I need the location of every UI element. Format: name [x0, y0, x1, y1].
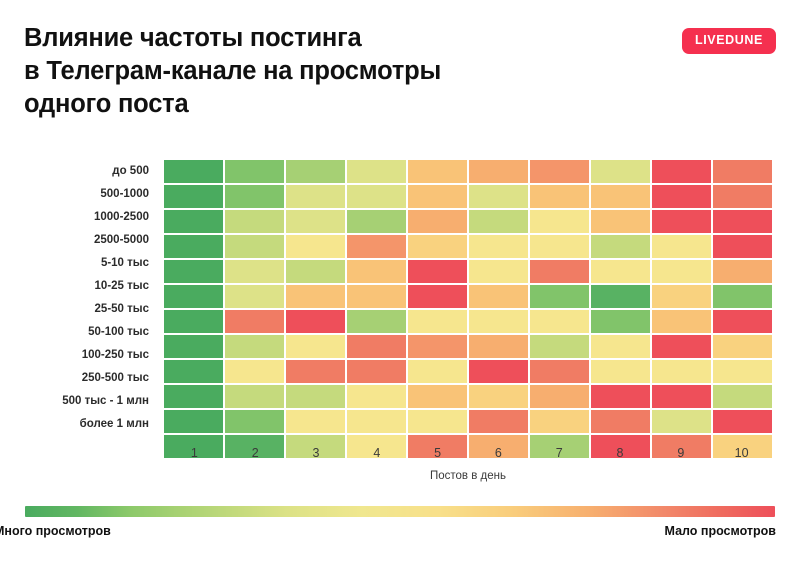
heatmap-cell	[408, 260, 467, 283]
heatmap-cell	[469, 310, 528, 333]
heatmap-cell	[591, 210, 650, 233]
heatmap-cell	[530, 360, 589, 383]
heatmap-cell	[530, 310, 589, 333]
heatmap-cell	[164, 335, 223, 358]
heatmap-cell	[225, 160, 284, 183]
heatmap-cell	[347, 335, 406, 358]
infographic-root: Влияние частоты постинга в Телеграм-кана…	[0, 0, 800, 561]
heatmap-chart: до 500500-10001000-25002500-50005-10 тыс…	[0, 150, 800, 470]
heatmap-cell	[530, 335, 589, 358]
y-axis-label: 25-50 тыс	[0, 298, 158, 321]
heatmap-cell	[286, 210, 345, 233]
heatmap-cell	[408, 385, 467, 408]
heatmap-cell	[347, 385, 406, 408]
heatmap-cell	[164, 360, 223, 383]
heatmap-cell	[408, 235, 467, 258]
livedune-logo-badge: LIVEDUNE	[682, 28, 776, 54]
heatmap-cell	[225, 210, 284, 233]
heatmap-cell	[591, 335, 650, 358]
y-axis-label: 2500-5000	[0, 229, 158, 252]
heatmap-cell	[469, 260, 528, 283]
heatmap-cell	[347, 285, 406, 308]
heatmap-cell	[469, 285, 528, 308]
heatmap-cell	[408, 335, 467, 358]
x-axis-label: 6	[468, 446, 529, 460]
heatmap-cell	[713, 360, 772, 383]
y-axis-label: 50-100 тыс	[0, 321, 158, 344]
heatmap-cell	[591, 260, 650, 283]
page-title: Влияние частоты постинга в Телеграм-кана…	[24, 22, 644, 121]
heatmap-cell	[591, 385, 650, 408]
heatmap-cell	[652, 410, 711, 433]
heatmap-cell	[469, 235, 528, 258]
heatmap-cell	[225, 360, 284, 383]
heatmap-cell	[286, 260, 345, 283]
y-axis-label: 500-1000	[0, 183, 158, 206]
heatmap-cell	[652, 260, 711, 283]
heatmap-cell	[469, 185, 528, 208]
y-axis-label: 1000-2500	[0, 206, 158, 229]
heatmap-cell	[591, 310, 650, 333]
x-axis-label: 2	[225, 446, 286, 460]
header: Влияние частоты постинга в Телеграм-кана…	[0, 0, 800, 150]
heatmap-cell	[652, 310, 711, 333]
heatmap-cell	[347, 235, 406, 258]
heatmap-cell	[652, 185, 711, 208]
heatmap-cell	[286, 160, 345, 183]
heatmap-cell	[347, 185, 406, 208]
heatmap-cell	[225, 185, 284, 208]
heatmap-cell	[713, 260, 772, 283]
x-axis-label: 8	[590, 446, 651, 460]
x-axis-label: 7	[529, 446, 590, 460]
heatmap-cell	[469, 385, 528, 408]
y-axis-labels: до 500500-10001000-25002500-50005-10 тыс…	[0, 160, 158, 436]
y-axis-label: 10-25 тыс	[0, 275, 158, 298]
heatmap-cell	[225, 260, 284, 283]
heatmap-cell	[530, 260, 589, 283]
heatmap-cell	[408, 160, 467, 183]
x-axis-label: 4	[346, 446, 407, 460]
heatmap-cell	[164, 310, 223, 333]
heatmap-cell	[347, 160, 406, 183]
heatmap-cell	[530, 185, 589, 208]
heatmap-cell	[713, 385, 772, 408]
heatmap-cell	[591, 185, 650, 208]
heatmap-cell	[347, 310, 406, 333]
y-axis-label: 250-500 тыс	[0, 367, 158, 390]
heatmap-cell	[652, 285, 711, 308]
x-axis-label: 1	[164, 446, 225, 460]
heatmap-cell	[469, 160, 528, 183]
x-axis-label: 10	[711, 446, 772, 460]
heatmap-cell	[164, 285, 223, 308]
heatmap-cell	[652, 210, 711, 233]
heatmap-cell	[408, 185, 467, 208]
heatmap-cell	[713, 160, 772, 183]
heatmap-cell	[530, 235, 589, 258]
heatmap-cell	[164, 235, 223, 258]
heatmap-cell	[347, 410, 406, 433]
heatmap-cell	[164, 160, 223, 183]
y-axis-label: 100-250 тыс	[0, 344, 158, 367]
heatmap-cell	[164, 410, 223, 433]
heatmap-cell	[713, 285, 772, 308]
heatmap-cell	[408, 410, 467, 433]
heatmap-cell	[408, 210, 467, 233]
heatmap-cell	[286, 410, 345, 433]
heatmap-cell	[225, 310, 284, 333]
x-axis-title: Постов в день	[164, 470, 772, 482]
heatmap-cell	[225, 410, 284, 433]
heatmap-cell	[286, 335, 345, 358]
heatmap-cell	[652, 160, 711, 183]
heatmap-cell	[347, 360, 406, 383]
x-axis-label: 5	[407, 446, 468, 460]
heatmap-cell	[713, 210, 772, 233]
legend-gradient-bar	[25, 506, 775, 517]
heatmap-cell	[652, 360, 711, 383]
y-axis-label: 500 тыс - 1 млн	[0, 390, 158, 413]
heatmap-cell	[225, 235, 284, 258]
heatmap-cell	[713, 185, 772, 208]
heatmap-cell	[286, 310, 345, 333]
heatmap-cell	[225, 385, 284, 408]
heatmap-cell	[286, 185, 345, 208]
heatmap-cell	[591, 285, 650, 308]
heatmap-cell	[225, 335, 284, 358]
heatmap-cell	[347, 210, 406, 233]
heatmap-cell	[530, 285, 589, 308]
y-axis-label: до 500	[0, 160, 158, 183]
heatmap-cell	[408, 360, 467, 383]
heatmap-cell	[652, 335, 711, 358]
heatmap-cell	[713, 335, 772, 358]
heatmap-cell	[286, 385, 345, 408]
heatmap-cell	[530, 160, 589, 183]
heatmap-cell	[469, 360, 528, 383]
x-axis-label: 9	[650, 446, 711, 460]
color-legend: Много просмотров Мало просмотров	[0, 498, 800, 546]
heatmap-cell	[408, 285, 467, 308]
legend-label-few-views: Мало просмотров	[665, 524, 777, 538]
heatmap-cell	[713, 235, 772, 258]
heatmap-cell	[591, 235, 650, 258]
legend-label-many-views: Много просмотров	[0, 524, 111, 538]
heatmap-cell	[408, 310, 467, 333]
heatmap-cell	[164, 185, 223, 208]
heatmap-cell	[286, 235, 345, 258]
heatmap-cell	[591, 360, 650, 383]
heatmap-cell	[225, 285, 284, 308]
heatmap-cell	[469, 335, 528, 358]
y-axis-label: более 1 млн	[0, 413, 158, 436]
heatmap-cell	[164, 385, 223, 408]
heatmap-cell	[530, 385, 589, 408]
heatmap-cell	[347, 260, 406, 283]
heatmap-cell	[164, 260, 223, 283]
heatmap-cell	[652, 385, 711, 408]
x-axis-labels: 12345678910	[164, 446, 772, 460]
heatmap-cell	[530, 210, 589, 233]
heatmap-grid	[164, 160, 772, 458]
heatmap-cell	[591, 410, 650, 433]
heatmap-cell	[286, 360, 345, 383]
heatmap-cell	[713, 410, 772, 433]
heatmap-cell	[469, 410, 528, 433]
heatmap-cell	[713, 310, 772, 333]
x-axis-label: 3	[286, 446, 347, 460]
heatmap-cell	[164, 210, 223, 233]
heatmap-cell	[530, 410, 589, 433]
heatmap-cell	[652, 235, 711, 258]
heatmap-cell	[591, 160, 650, 183]
heatmap-cell	[469, 210, 528, 233]
heatmap-cell	[286, 285, 345, 308]
y-axis-label: 5-10 тыс	[0, 252, 158, 275]
